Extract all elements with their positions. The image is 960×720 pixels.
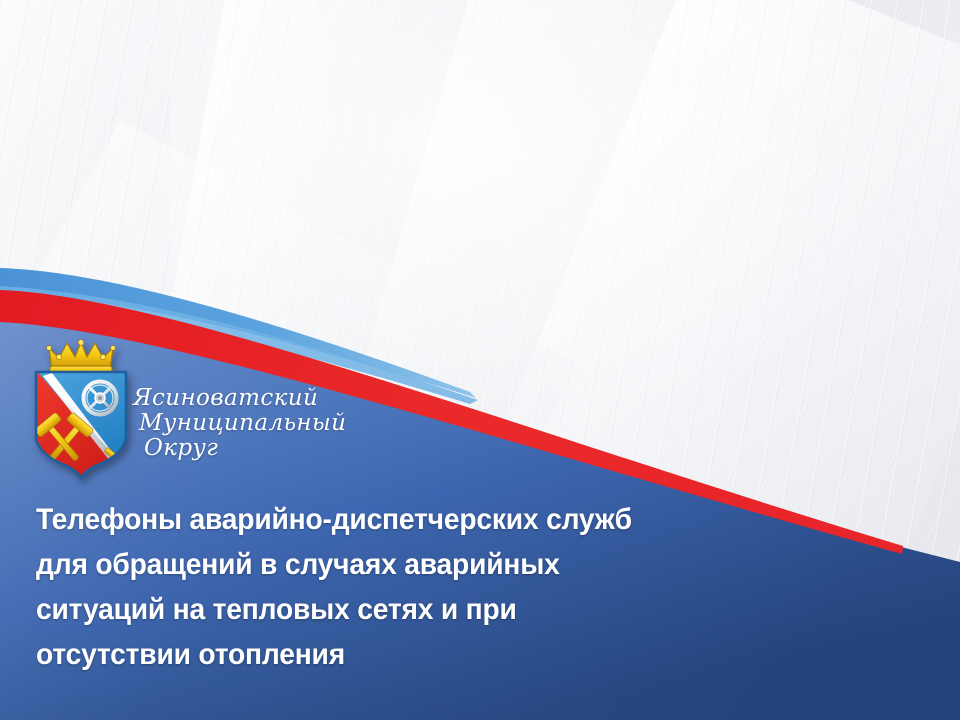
page-title-line-4: отсутствии отопления [36,632,656,677]
shield [32,370,134,485]
page-title-line-1: Телефоны аварийно-диспетчерских служб [36,497,656,542]
crown-icon [47,340,116,374]
coat-of-arms [22,340,140,490]
municipality-name-line-1: Ясиноватский [133,385,318,411]
municipality-name: Ясиноватский Муниципальный Округ [133,386,346,461]
page-title-line-2: для обращений в случаях аварийных [36,542,656,587]
page-title: Телефоны аварийно-диспетчерских служб дл… [36,497,656,677]
municipality-name-line-3: Округ [133,436,346,461]
slide-canvas: Ясиноватский Муниципальный Округ Телефон… [0,0,960,720]
page-title-line-3: ситуаций на тепловых сетях и при [36,587,656,632]
wheel-icon [84,382,117,415]
municipality-name-line-2: Муниципальный [133,411,346,436]
